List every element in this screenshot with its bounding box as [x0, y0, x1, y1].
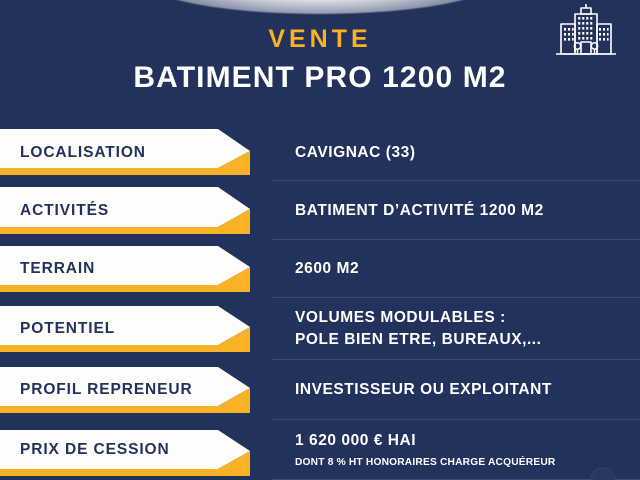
- row-value: 2600 M2: [295, 258, 633, 280]
- office-buildings-icon: [554, 4, 618, 62]
- row-value-group: VOLUMES MODULABLES : POLE BIEN ETRE, BUR…: [295, 298, 633, 360]
- table-row: PROFIL REPRENEUR INVESTISSEUR OU EXPLOIT…: [0, 360, 640, 420]
- row-value: 1 620 000 € HAI: [295, 430, 633, 452]
- row-value-group: INVESTISSEUR OU EXPLOITANT: [295, 360, 633, 420]
- poster-header: VENTE BATIMENT PRO 1200 M2: [0, 0, 640, 118]
- row-value-group: 2600 M2: [295, 240, 633, 298]
- page-title: BATIMENT PRO 1200 M2: [0, 63, 640, 93]
- row-value-group: 1 620 000 € HAI DONT 8 % HT HONORAIRES C…: [295, 420, 633, 480]
- listing-poster: VENTE BATIMENT PRO 1200 M2: [0, 0, 640, 480]
- row-label: PROFIL REPRENEUR: [20, 360, 193, 420]
- table-row: ACTIVITÉS BATIMENT D’ACTIVITÉ 1200 M2: [0, 181, 640, 240]
- row-value: CAVIGNAC (33): [295, 142, 633, 164]
- table-row: PRIX DE CESSION 1 620 000 € HAI DONT 8 %…: [0, 420, 640, 480]
- kicker-label: VENTE: [0, 27, 640, 52]
- row-label: POTENTIEL: [20, 298, 115, 360]
- row-label: TERRAIN: [20, 240, 95, 298]
- row-value-group: CAVIGNAC (33): [295, 124, 633, 181]
- row-value-note: DONT 8 % HT HONORAIRES CHARGE ACQUÉREUR: [295, 455, 633, 470]
- row-value-group: BATIMENT D’ACTIVITÉ 1200 M2: [295, 181, 633, 240]
- row-value: INVESTISSEUR OU EXPLOITANT: [295, 379, 633, 401]
- table-row: POTENTIEL VOLUMES MODULABLES : POLE BIEN…: [0, 298, 640, 360]
- detail-rows: LOCALISATION CAVIGNAC (33) ACTIVITÉS BAT…: [0, 124, 640, 480]
- row-label: ACTIVITÉS: [20, 181, 109, 240]
- row-value: VOLUMES MODULABLES :: [295, 307, 633, 329]
- row-value: BATIMENT D’ACTIVITÉ 1200 M2: [295, 200, 633, 222]
- table-row: TERRAIN 2600 M2: [0, 240, 640, 298]
- row-label: PRIX DE CESSION: [20, 420, 170, 480]
- row-label: LOCALISATION: [20, 124, 146, 181]
- row-value-line2: POLE BIEN ETRE, BUREAUX,...: [295, 329, 633, 351]
- table-row: LOCALISATION CAVIGNAC (33): [0, 124, 640, 181]
